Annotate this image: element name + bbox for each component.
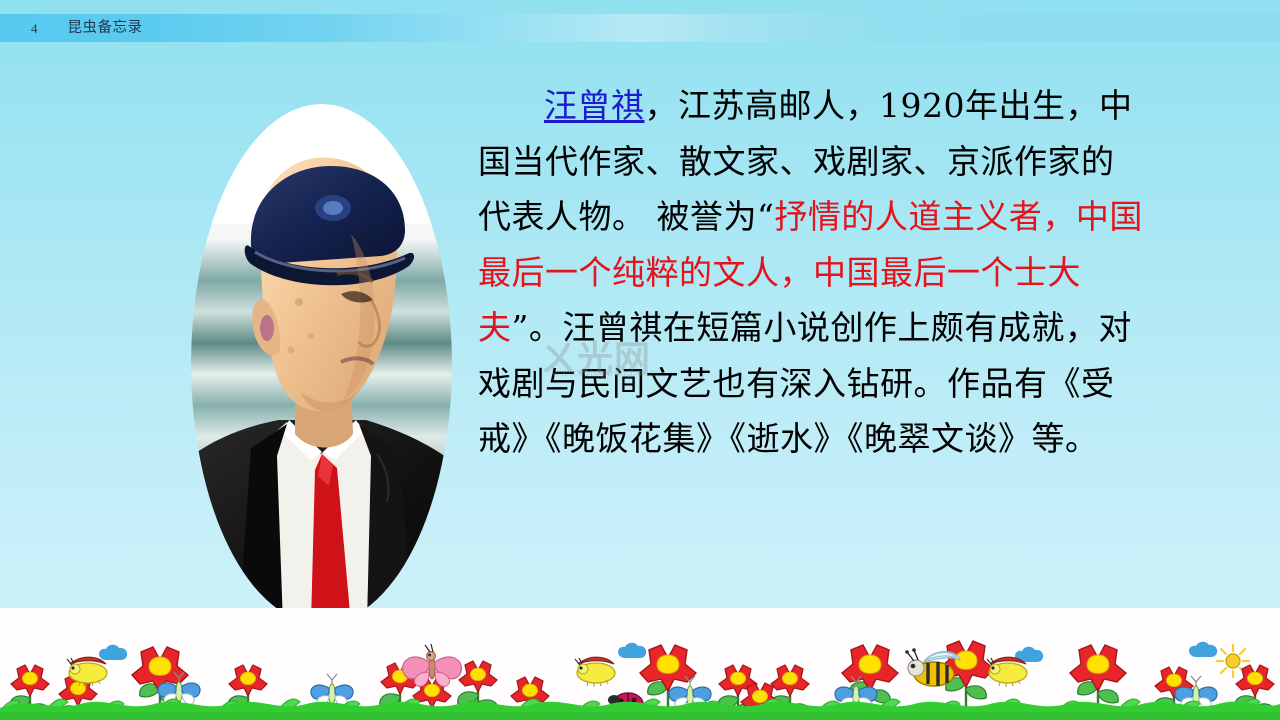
decoration-strip [0, 608, 1280, 720]
portrait-photo [191, 104, 452, 624]
page-number: 4 [31, 22, 38, 35]
bio-paragraph: 汪曾祺，江苏高邮人，1920年出生，中国当代作家、散文家、戏剧家、京派作家的代表… [478, 78, 1146, 467]
page-title: 昆虫备忘录 [68, 21, 143, 36]
header: 4 昆虫备忘录 [0, 14, 1280, 42]
author-name-link[interactable]: 汪曾祺 [544, 86, 645, 125]
bio-paragraph-black-2: 汪曾祺在短篇小说创作上颇有成就，对戏剧与民间文艺也有深入钻研。作品有《受戒》《晚… [478, 308, 1132, 458]
slide: 4 昆虫备忘录 [0, 0, 1280, 720]
quote-open-mark: “ [757, 197, 774, 236]
quote-close-mark: ” [512, 308, 529, 347]
bio-line1-rest: ，江苏高邮人，1920年 [645, 86, 999, 125]
quote-period: 。 [529, 308, 563, 347]
